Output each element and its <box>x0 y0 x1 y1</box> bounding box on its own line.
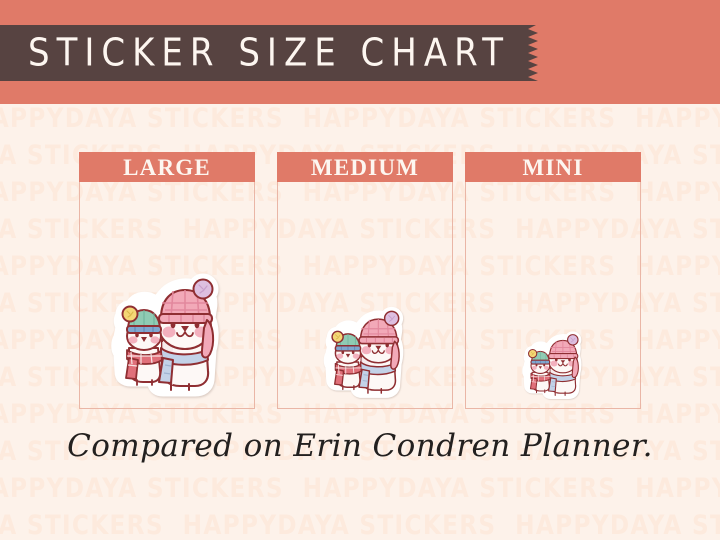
page-title: STICKER SIZE CHART <box>28 22 528 85</box>
winter-bears-sticker <box>107 270 227 402</box>
size-box-mini: MINI <box>465 152 641 409</box>
sticker-size-chart-page: HAPPYDAYA STICKERS HAPPYDAYA STICKERS HA… <box>0 0 720 540</box>
winter-bears-sticker <box>321 304 410 402</box>
size-box-body-medium <box>278 183 452 408</box>
size-box-header-medium: MEDIUM <box>277 152 453 182</box>
chart-caption: Compared on Erin Condren Planner. <box>0 428 720 464</box>
size-box-large: LARGE <box>79 152 255 409</box>
winter-bears-sticker <box>520 329 586 402</box>
size-box-header-large: LARGE <box>79 152 255 182</box>
size-box-medium: MEDIUM <box>277 152 453 409</box>
size-label: MINI <box>522 156 583 179</box>
size-label: MEDIUM <box>311 156 419 179</box>
size-label: LARGE <box>123 156 211 179</box>
size-box-body-mini <box>466 183 640 408</box>
size-box-header-mini: MINI <box>465 152 641 182</box>
size-box-body-large <box>80 183 254 408</box>
